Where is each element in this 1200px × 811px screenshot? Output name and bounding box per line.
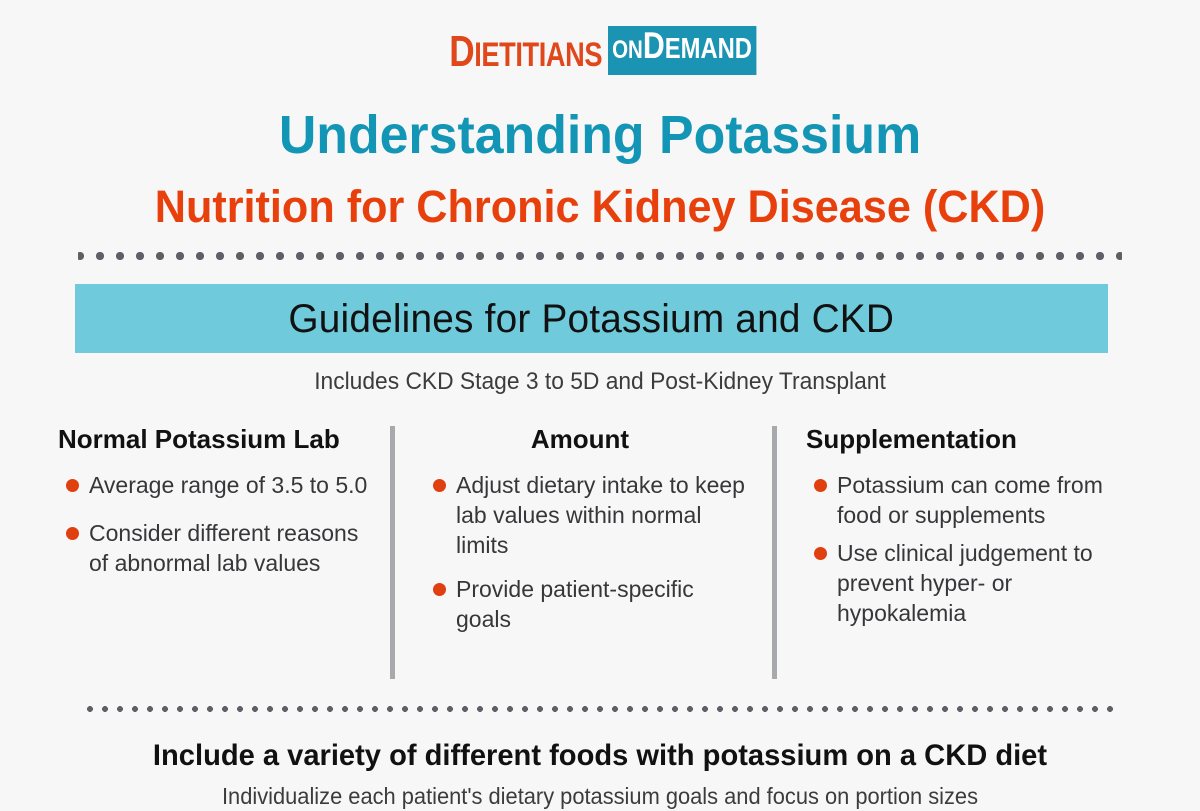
infographic-page: DIETITIANS ONDEMAND Understanding Potass… (0, 0, 1200, 800)
column-heading: Amount (425, 424, 755, 454)
guidelines-banner-caption: Includes CKD Stage 3 to 5D and Post-Kidn… (30, 367, 1170, 397)
list-item: Use clinical judgement to prevent hyper-… (806, 538, 1126, 628)
logo-on-text: ON (612, 36, 643, 64)
bullet-dot-icon (433, 583, 446, 596)
list-item: Average range of 3.5 to 5.0 (58, 470, 383, 500)
list-item-text: Consider different reasons of abnormal l… (89, 520, 358, 576)
column-bullet-list: Potassium can come from food or suppleme… (806, 470, 1126, 628)
logo-dietitians-wordmark: DIETITIANS (449, 32, 602, 75)
column-amount: Amount Adjust dietary intake to keep lab… (425, 424, 755, 648)
footer-subtext: Individualize each patient's dietary pot… (30, 781, 1170, 811)
logo-demand-capital: D (643, 25, 665, 66)
page-subtitle: Nutrition for Chronic Kidney Disease (CK… (24, 181, 1176, 233)
page-title: Understanding Potassium (24, 105, 1176, 165)
footer-heading: Include a variety of different foods wit… (18, 738, 1182, 774)
logo-ondemand-wordmark: ONDEMAND (608, 26, 756, 75)
brand-logo: DIETITIANS ONDEMAND (0, 26, 1200, 75)
list-item-text: Potassium can come from food or suppleme… (837, 472, 1103, 528)
bullet-dot-icon (814, 479, 827, 492)
logo-dietitians-capital: D (449, 27, 474, 76)
column-supplementation: Supplementation Potassium can come from … (806, 424, 1126, 636)
list-item-text: Adjust dietary intake to keep lab values… (456, 472, 745, 558)
logo-dietitians-rest: IETITIANS (474, 36, 602, 74)
list-item-text: Average range of 3.5 to 5.0 (89, 472, 367, 498)
column-heading: Supplementation (806, 424, 1126, 454)
bullet-dot-icon (66, 479, 79, 492)
column-normal-potassium-lab: Normal Potassium Lab Average range of 3.… (58, 424, 383, 578)
guidelines-banner: Guidelines for Potassium and CKD (75, 284, 1108, 353)
list-item-text: Use clinical judgement to prevent hyper-… (837, 540, 1093, 626)
column-divider-1 (390, 426, 395, 679)
column-bullet-list: Adjust dietary intake to keep lab values… (425, 470, 755, 634)
list-item: Provide patient-specific goals (425, 574, 755, 634)
dotted-divider-bottom (78, 706, 1122, 712)
column-bullet-list: Average range of 3.5 to 5.0 Consider dif… (58, 470, 383, 578)
bullet-dot-icon (433, 479, 446, 492)
guidelines-columns: Normal Potassium Lab Average range of 3.… (0, 424, 1200, 686)
bullet-dot-icon (66, 527, 79, 540)
column-heading: Normal Potassium Lab (58, 424, 383, 454)
bullet-dot-icon (814, 547, 827, 560)
dotted-divider-top (78, 252, 1122, 260)
guidelines-banner-title: Guidelines for Potassium and CKD (289, 297, 895, 341)
logo-demand-rest: EMAND (665, 33, 752, 65)
list-item: Consider different reasons of abnormal l… (58, 518, 383, 578)
list-item-text: Provide patient-specific goals (456, 576, 694, 632)
list-item: Potassium can come from food or suppleme… (806, 470, 1126, 530)
list-item: Adjust dietary intake to keep lab values… (425, 470, 755, 560)
column-divider-2 (772, 426, 777, 679)
